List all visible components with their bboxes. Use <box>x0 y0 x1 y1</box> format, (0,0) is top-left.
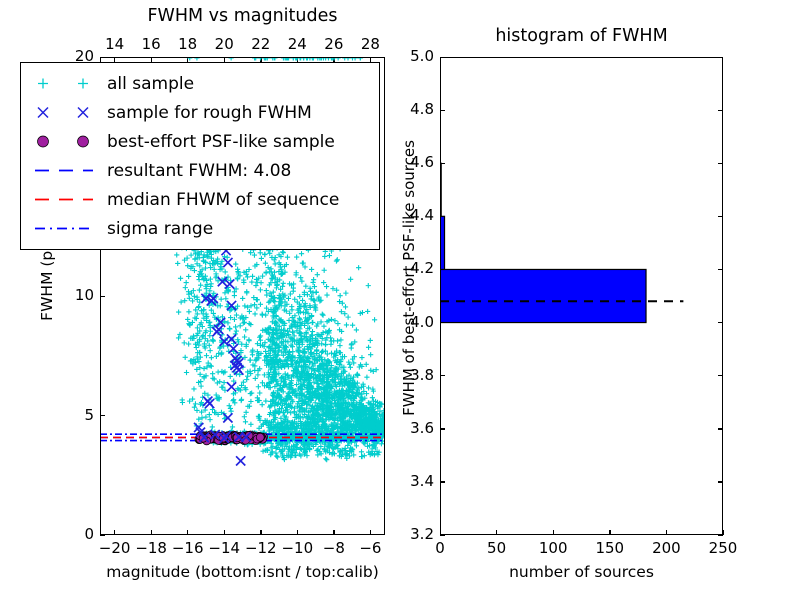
right-xlabel: number of sources <box>440 563 723 581</box>
histogram-bar <box>441 269 646 322</box>
right-x-tick-label: 200 <box>642 539 690 557</box>
legend-item-1: sample for rough FWHM <box>21 98 379 127</box>
legend-item-2: best-effort PSF-like sample <box>21 127 379 156</box>
right-ylabel: FWHM of best-effort PSF-like sources <box>400 39 418 517</box>
right-y-tick-right <box>718 535 723 536</box>
legend-item-3: resultant FWHM: 4.08 <box>21 156 379 185</box>
legend-item-label: median FHWM of sequence <box>107 190 339 210</box>
dashdot-line-icon <box>21 214 107 243</box>
legend-marker <box>21 156 107 185</box>
dashed-line-icon <box>21 185 107 214</box>
dashed-line-icon <box>21 156 107 185</box>
legend-item-label: resultant FWHM: 4.08 <box>107 161 291 181</box>
right-x-tick-label: 50 <box>473 539 521 557</box>
legend-item-label: all sample <box>107 74 194 94</box>
legend-item-label: sigma range <box>107 219 213 239</box>
legend-item-4: median FHWM of sequence <box>21 185 379 214</box>
legend-marker <box>21 69 107 98</box>
legend-marker <box>21 127 107 156</box>
legend-item-0: all sample <box>21 69 379 98</box>
cross-marker-icon <box>21 98 107 127</box>
plot-legend: all samplesample for rough FWHMbest-effo… <box>20 62 380 250</box>
right-x-tick-label: 150 <box>586 539 634 557</box>
right-plot-title: histogram of FWHM <box>440 26 723 46</box>
legend-item-5: sigma range <box>21 214 379 243</box>
right-y-tick-label: 3.2 <box>388 525 434 543</box>
histogram-bars <box>441 58 722 534</box>
right-plot-area <box>441 58 722 534</box>
right-x-tick-label: 250 <box>699 539 747 557</box>
legend-marker <box>21 214 107 243</box>
legend-marker <box>21 185 107 214</box>
right-y-tick <box>440 535 445 536</box>
legend-marker <box>21 98 107 127</box>
plus-marker-icon <box>21 69 107 98</box>
figure-canvas: FWHM vs magnitudes−20−18−16−14−12−10−8−6… <box>0 0 800 600</box>
histogram-bar <box>441 216 445 269</box>
right-x-tick-label: 100 <box>529 539 577 557</box>
legend-item-label: sample for rough FWHM <box>107 103 312 123</box>
dot-marker-icon <box>21 127 107 156</box>
legend-item-label: best-effort PSF-like sample <box>107 132 335 152</box>
